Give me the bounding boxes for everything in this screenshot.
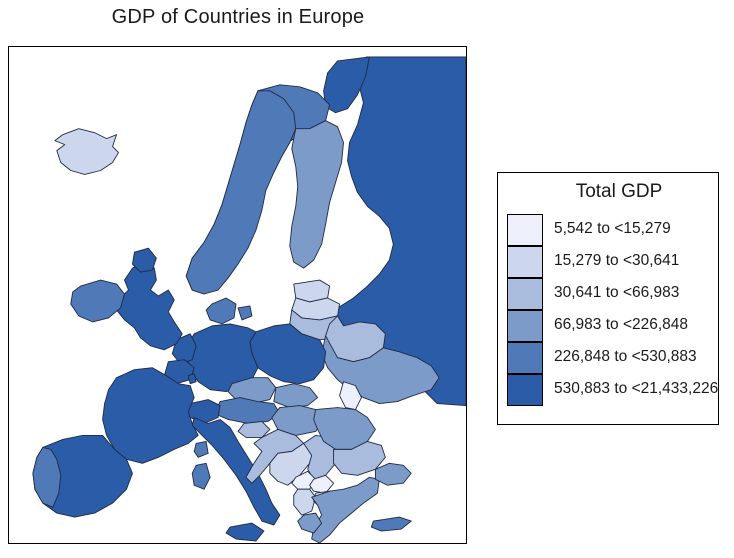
country-slovenia[interactable] [238,421,270,437]
legend-row[interactable]: 226,848 to <530,883 [507,341,718,373]
legend-row[interactable]: 5,542 to <15,279 [507,213,718,245]
country-ireland[interactable] [71,280,125,322]
legend-label-2: 15,279 to <30,641 [554,252,679,270]
legend-swatch-1 [507,214,543,246]
legend-label-5: 226,848 to <530,883 [554,348,697,366]
country-albania[interactable] [294,489,316,515]
island-sicily[interactable] [226,523,264,541]
country-denmark-island[interactable] [238,306,252,320]
country-turkey-thrace[interactable] [375,463,411,485]
legend-row[interactable]: 15,279 to <30,641 [507,245,718,277]
europe-choropleth-map[interactable] [9,47,466,543]
legend-row[interactable]: 530,883 to <21,433,226 [507,373,718,405]
country-austria[interactable] [214,398,280,424]
legend-swatch-2 [507,246,543,278]
legend-swatch-5 [507,342,543,374]
country-denmark[interactable] [206,298,236,324]
legend-row[interactable]: 66,983 to <226,848 [507,309,718,341]
country-united-kingdom[interactable] [117,262,183,350]
legend-label-3: 30,641 to <66,983 [554,284,679,302]
country-finland[interactable] [290,121,344,268]
legend-swatch-6 [507,374,543,406]
country-luxembourg[interactable] [188,374,196,384]
legend-label-1: 5,542 to <15,279 [554,220,671,238]
country-sweden[interactable] [186,91,296,294]
legend-label-6: 530,883 to <21,433,226 [554,380,718,398]
map-frame [8,46,467,544]
legend-items: 5,542 to <15,279 15,279 to <30,641 30,64… [507,213,718,405]
island-cyprus[interactable] [371,517,411,531]
legend-label-4: 66,983 to <226,848 [554,316,688,334]
page-title: GDP of Countries in Europe [8,6,468,29]
legend-box: Total GDP 5,542 to <15,279 15,279 to <30… [497,172,719,425]
island-sardinia[interactable] [192,463,210,489]
country-france[interactable] [103,368,199,464]
legend-swatch-3 [507,278,543,310]
legend-title: Total GDP [498,181,718,203]
legend-row[interactable]: 30,641 to <66,983 [507,277,718,309]
island-corsica[interactable] [194,441,208,457]
legend-swatch-4 [507,310,543,342]
country-slovakia[interactable] [274,384,318,408]
country-iceland[interactable] [55,129,119,175]
